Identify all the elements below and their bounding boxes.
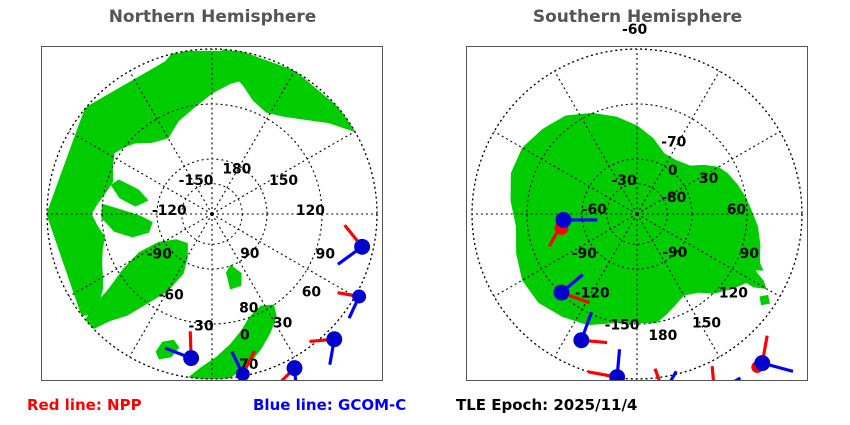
svg-text:-80: -80 xyxy=(661,190,686,206)
svg-text:-60: -60 xyxy=(582,202,607,218)
southern-hemisphere-panel: Southern Hemisphere -700-3030-80-6060-90… xyxy=(425,0,850,425)
svg-text:90: 90 xyxy=(740,246,760,262)
svg-text:-90: -90 xyxy=(147,247,172,263)
svg-text:30: 30 xyxy=(699,171,719,187)
svg-text:-90: -90 xyxy=(662,245,687,261)
svg-text:-150: -150 xyxy=(605,317,640,333)
svg-text:-120: -120 xyxy=(152,203,187,219)
svg-text:0: 0 xyxy=(668,163,678,179)
svg-text:-90: -90 xyxy=(572,246,597,262)
northern-hemisphere-title: Northern Hemisphere xyxy=(0,7,425,27)
svg-text:90: 90 xyxy=(240,246,260,262)
svg-text:-70: -70 xyxy=(661,134,686,150)
southern-top-latitude-label: -60 xyxy=(622,22,647,38)
svg-text:150: 150 xyxy=(692,315,721,331)
southern-hemisphere-map: -700-3030-80-6060-9090-120120-150150180-… xyxy=(467,47,807,380)
svg-text:180: 180 xyxy=(648,328,677,344)
svg-text:90: 90 xyxy=(316,247,336,263)
satellite-track-figure: Northern Hemisphere 180-150150-120120-90… xyxy=(0,0,850,425)
svg-text:-30: -30 xyxy=(612,173,637,189)
svg-text:120: 120 xyxy=(296,203,325,219)
svg-text:0: 0 xyxy=(240,327,250,343)
northern-hemisphere-plot: 180-150150-120120-9090-6060-303009080706… xyxy=(41,46,383,381)
svg-text:-60: -60 xyxy=(159,288,184,304)
svg-text:-30: -30 xyxy=(189,318,214,334)
svg-text:-150: -150 xyxy=(179,173,214,189)
legend-npp: Red line: NPP xyxy=(27,396,142,414)
svg-text:120: 120 xyxy=(719,286,748,302)
northern-hemisphere-panel: Northern Hemisphere 180-150150-120120-90… xyxy=(0,0,425,425)
svg-text:150: 150 xyxy=(269,173,298,189)
southern-hemisphere-plot: -700-3030-80-6060-9090-120120-150150180-… xyxy=(466,46,808,381)
legend-gcomc: Blue line: GCOM-C xyxy=(253,396,406,414)
svg-text:180: 180 xyxy=(222,161,251,177)
svg-text:60: 60 xyxy=(302,285,322,301)
svg-text:30: 30 xyxy=(273,315,293,331)
svg-text:80: 80 xyxy=(239,300,259,316)
svg-text:60: 60 xyxy=(727,202,747,218)
tle-epoch-label: TLE Epoch: 2025/11/4 xyxy=(456,396,637,414)
northern-hemisphere-map: 180-150150-120120-9090-6060-303009080706… xyxy=(42,47,382,380)
